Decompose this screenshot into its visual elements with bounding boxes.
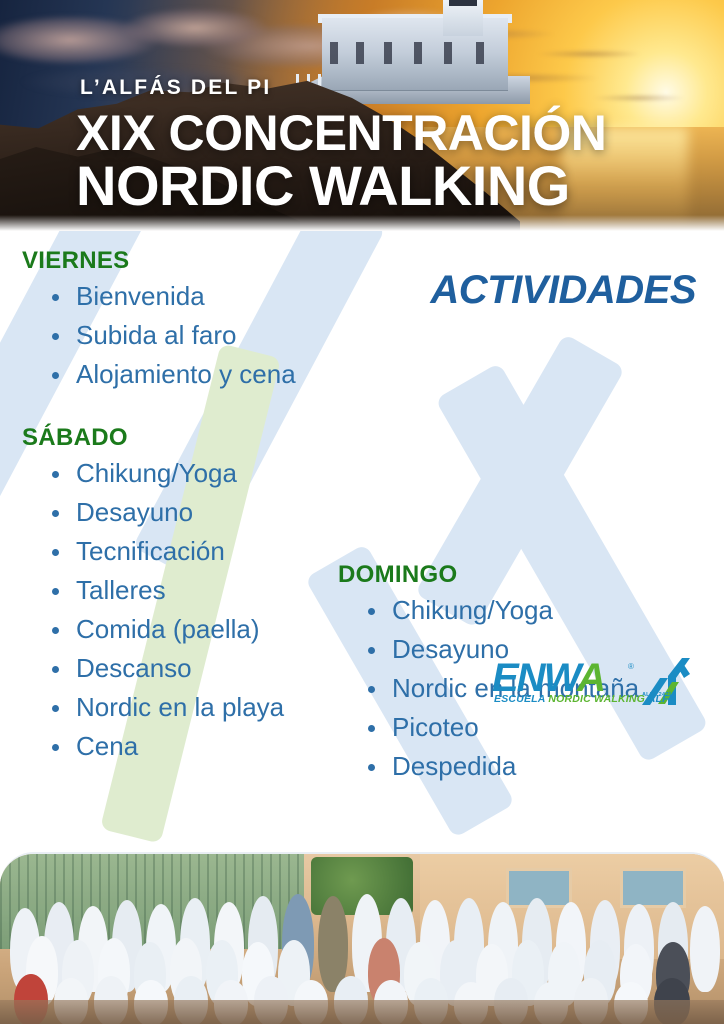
hero-title-line1: XIX CONCENTRACIÓN: [76, 108, 606, 158]
poster-root: L’ALFÁS DEL PI XIX CONCENTRACIÓN NORDIC …: [0, 0, 724, 1024]
list-item: Chikung/Yoga: [50, 454, 372, 493]
hero-title-line2: NORDIC WALKING: [76, 158, 570, 214]
day-list-sabado: Chikung/Yoga Desayuno Tecnificación Tall…: [50, 454, 372, 766]
person: [690, 906, 720, 992]
photo-crowd: [0, 854, 724, 1024]
schedule-column-left: VIERNES Bienvenida Subida al faro Alojam…: [22, 247, 372, 766]
list-item: Chikung/Yoga: [366, 591, 724, 630]
hero-kicker: L’ALFÁS DEL PI: [80, 76, 271, 100]
photo-ground: [0, 1000, 724, 1024]
content-area: ACTIVIDADES VIERNES Bienvenida Subida al…: [0, 231, 724, 851]
enwa-wordmark: ENWA: [492, 658, 604, 698]
group-photo: [0, 852, 724, 1024]
day-heading-domingo: DOMINGO: [338, 561, 724, 589]
list-item: Descanso: [50, 649, 372, 688]
day-block-sabado: SÁBADO Chikung/Yoga Desayuno Tecnificaci…: [22, 424, 372, 766]
list-item: Cena: [50, 727, 372, 766]
day-heading-viernes: VIERNES: [22, 247, 372, 275]
list-item: Comida (paella): [50, 610, 372, 649]
day-block-viernes: VIERNES Bienvenida Subida al faro Alojam…: [22, 247, 372, 394]
enwa-tagline-part-3: ALFA: [648, 693, 676, 705]
hero-banner: L’ALFÁS DEL PI XIX CONCENTRACIÓN NORDIC …: [0, 0, 724, 231]
list-item: Nordic en la playa: [50, 688, 372, 727]
enwa-tagline: ESCUELA NORDIC WALKING ALFA: [494, 693, 676, 705]
day-heading-sabado: SÁBADO: [22, 424, 372, 452]
list-item: Desayuno: [50, 493, 372, 532]
registered-trademark-icon: ®: [628, 662, 634, 671]
enwa-tagline-part-2: NORDIC WALKING: [548, 693, 647, 705]
hero-text-block: L’ALFÁS DEL PI XIX CONCENTRACIÓN NORDIC …: [0, 0, 724, 231]
enwa-logo: ENWA ® ALFA 24710 ESCUELA NORDIC WALKING…: [492, 658, 692, 716]
list-item: Alojamiento y cena: [50, 355, 372, 394]
list-item: Talleres: [50, 571, 372, 610]
day-list-viernes: Bienvenida Subida al faro Alojamiento y …: [50, 277, 372, 394]
list-item: Tecnificación: [50, 532, 372, 571]
section-heading-actividades: ACTIVIDADES: [430, 268, 696, 313]
list-item: Despedida: [366, 747, 724, 786]
list-item: Subida al faro: [50, 316, 372, 355]
spacer: [22, 394, 372, 424]
list-item: Bienvenida: [50, 277, 372, 316]
enwa-tagline-part-1: ESCUELA: [494, 693, 548, 705]
